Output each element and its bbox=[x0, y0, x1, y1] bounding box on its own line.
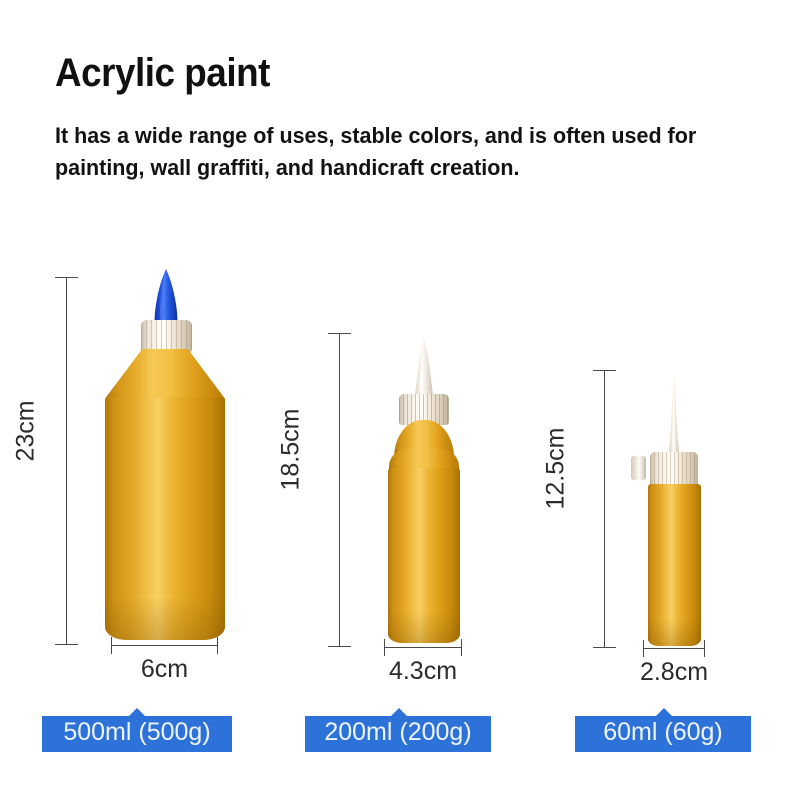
bottle-base-shadow-60ml bbox=[648, 618, 701, 646]
volume-badge-label-200ml: 200ml (200g) bbox=[324, 718, 471, 747]
product-infographic: Acrylic paint It has a wide range of use… bbox=[0, 0, 800, 800]
bottle-body-60ml bbox=[648, 484, 701, 646]
volume-badge-label-500ml: 500ml (500g) bbox=[63, 718, 210, 747]
width-dimension-line-60ml bbox=[643, 648, 705, 649]
volume-badge-label-60ml: 60ml (60g) bbox=[603, 718, 723, 747]
width-dimension-label-60ml: 2.8cm bbox=[622, 658, 726, 687]
detached-cap-piece-60ml bbox=[631, 456, 646, 480]
collar-rib-shading-60ml bbox=[650, 452, 698, 488]
volume-badge-60ml[interactable]: 60ml (60g) bbox=[575, 708, 751, 752]
height-dimension-line-60ml bbox=[604, 370, 605, 648]
needle-nozzle-icon bbox=[663, 370, 685, 462]
product-bottle-60ml: 12.5cm 2.8cm bbox=[0, 0, 800, 800]
